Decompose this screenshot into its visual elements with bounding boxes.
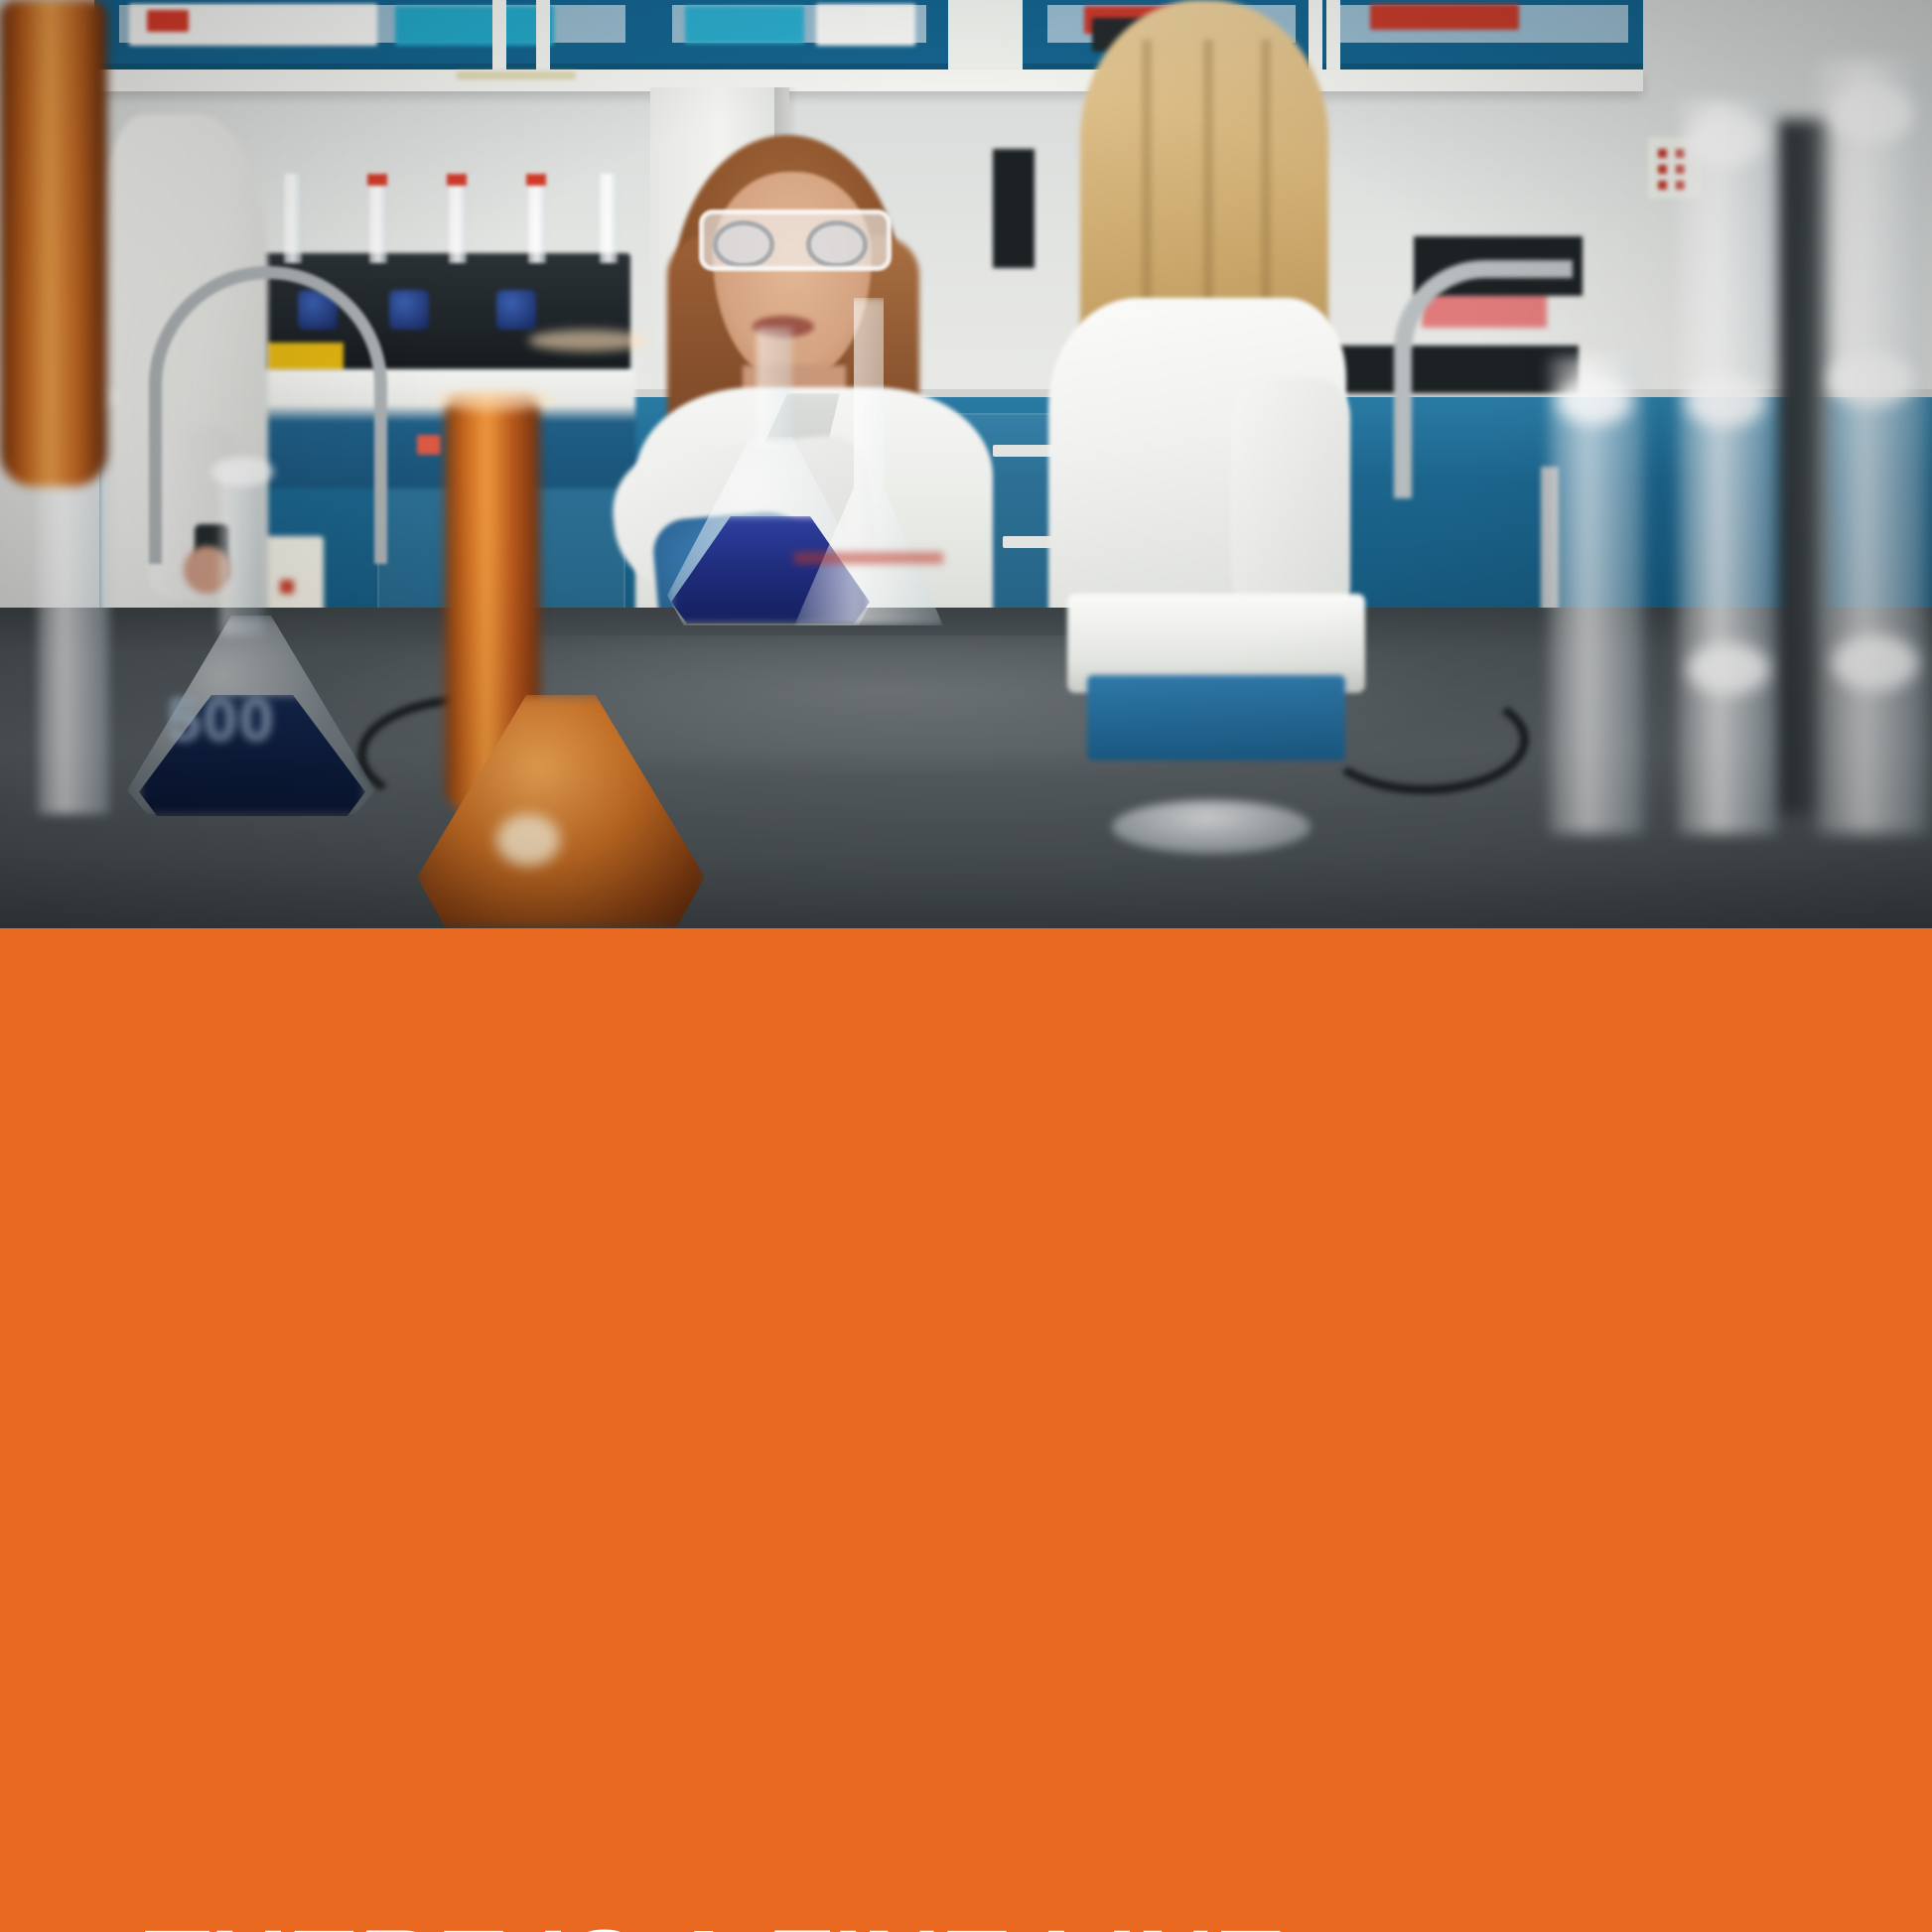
bokeh-highlight-6	[1688, 643, 1769, 695]
volumetric-flask-label: 500	[167, 685, 275, 756]
erlenmeyer-flask-neck	[757, 328, 792, 449]
volumetric-flask-neck	[220, 467, 264, 635]
erlenmeyer-flask-right-marking	[794, 552, 943, 564]
cabinet-divider-b	[536, 0, 550, 69]
graduated-cylinder-right-3	[1549, 357, 1644, 834]
cabinet-item-teal-box-2	[685, 6, 804, 44]
instrument-indicator-red	[417, 435, 441, 455]
test-tube-cap-1	[367, 174, 387, 186]
safety-goggles-icon	[699, 209, 892, 271]
bokeh-highlight-4	[1829, 353, 1914, 407]
cabinet-lip-tab-left	[457, 71, 576, 79]
bokeh-highlight-7	[1833, 635, 1918, 691]
equipment-cable-1	[1320, 685, 1529, 794]
bokeh-highlight-1	[1688, 111, 1765, 167]
upper-cabinet-lip	[94, 69, 1643, 91]
amber-flask-highlight	[496, 814, 560, 866]
test-tube-3	[449, 174, 467, 263]
graduated-cylinder-right-2	[1817, 60, 1928, 834]
sample-vial-3	[496, 290, 536, 330]
bokeh-highlight-3	[1686, 375, 1765, 427]
bokeh-highlight-2	[1831, 83, 1914, 143]
test-tube-1	[284, 174, 302, 263]
cabinet-item-teal-box	[395, 6, 554, 46]
amber-flask-rim-2	[528, 330, 647, 351]
flexible-hose	[149, 266, 387, 564]
test-tube-2	[369, 174, 387, 263]
sample-vial-2	[389, 290, 429, 330]
cabinet-item-white-box-2	[816, 4, 915, 46]
bokeh-highlight-5	[1557, 377, 1632, 425]
scientist-right-sleeve	[1231, 377, 1350, 616]
test-tube-cap-3	[526, 174, 546, 186]
scientist-right	[1023, 0, 1350, 635]
volumetric-flask-rim	[210, 457, 274, 486]
amber-flask-neck-2	[0, 0, 107, 486]
cabinet-item-red-tray-2	[1370, 4, 1519, 30]
amber-flask-rim-1	[435, 389, 554, 411]
orange-message-panel: THERE IS A FINE LINE BETWEEN PASSION AND…	[0, 928, 1932, 1932]
analytical-balance-base	[1087, 675, 1345, 760]
graduated-cylinder-right-1	[1678, 99, 1777, 834]
balance-weighing-dish	[1112, 800, 1311, 854]
poster: 500 THERE IS A FINE LINE BETWEEN PASSION…	[0, 0, 1932, 1932]
cabinet-divider-a	[492, 0, 506, 69]
lab-photograph: 500	[0, 0, 1932, 928]
test-tube-4	[528, 174, 546, 263]
page-headline: THERE IS A FINE LINE BETWEEN PASSION AND…	[144, 1926, 1714, 1932]
lab-faucet-gooseneck	[1394, 260, 1573, 498]
cabinet-item-red-label	[147, 10, 189, 32]
test-tube-cap-2	[447, 174, 467, 186]
